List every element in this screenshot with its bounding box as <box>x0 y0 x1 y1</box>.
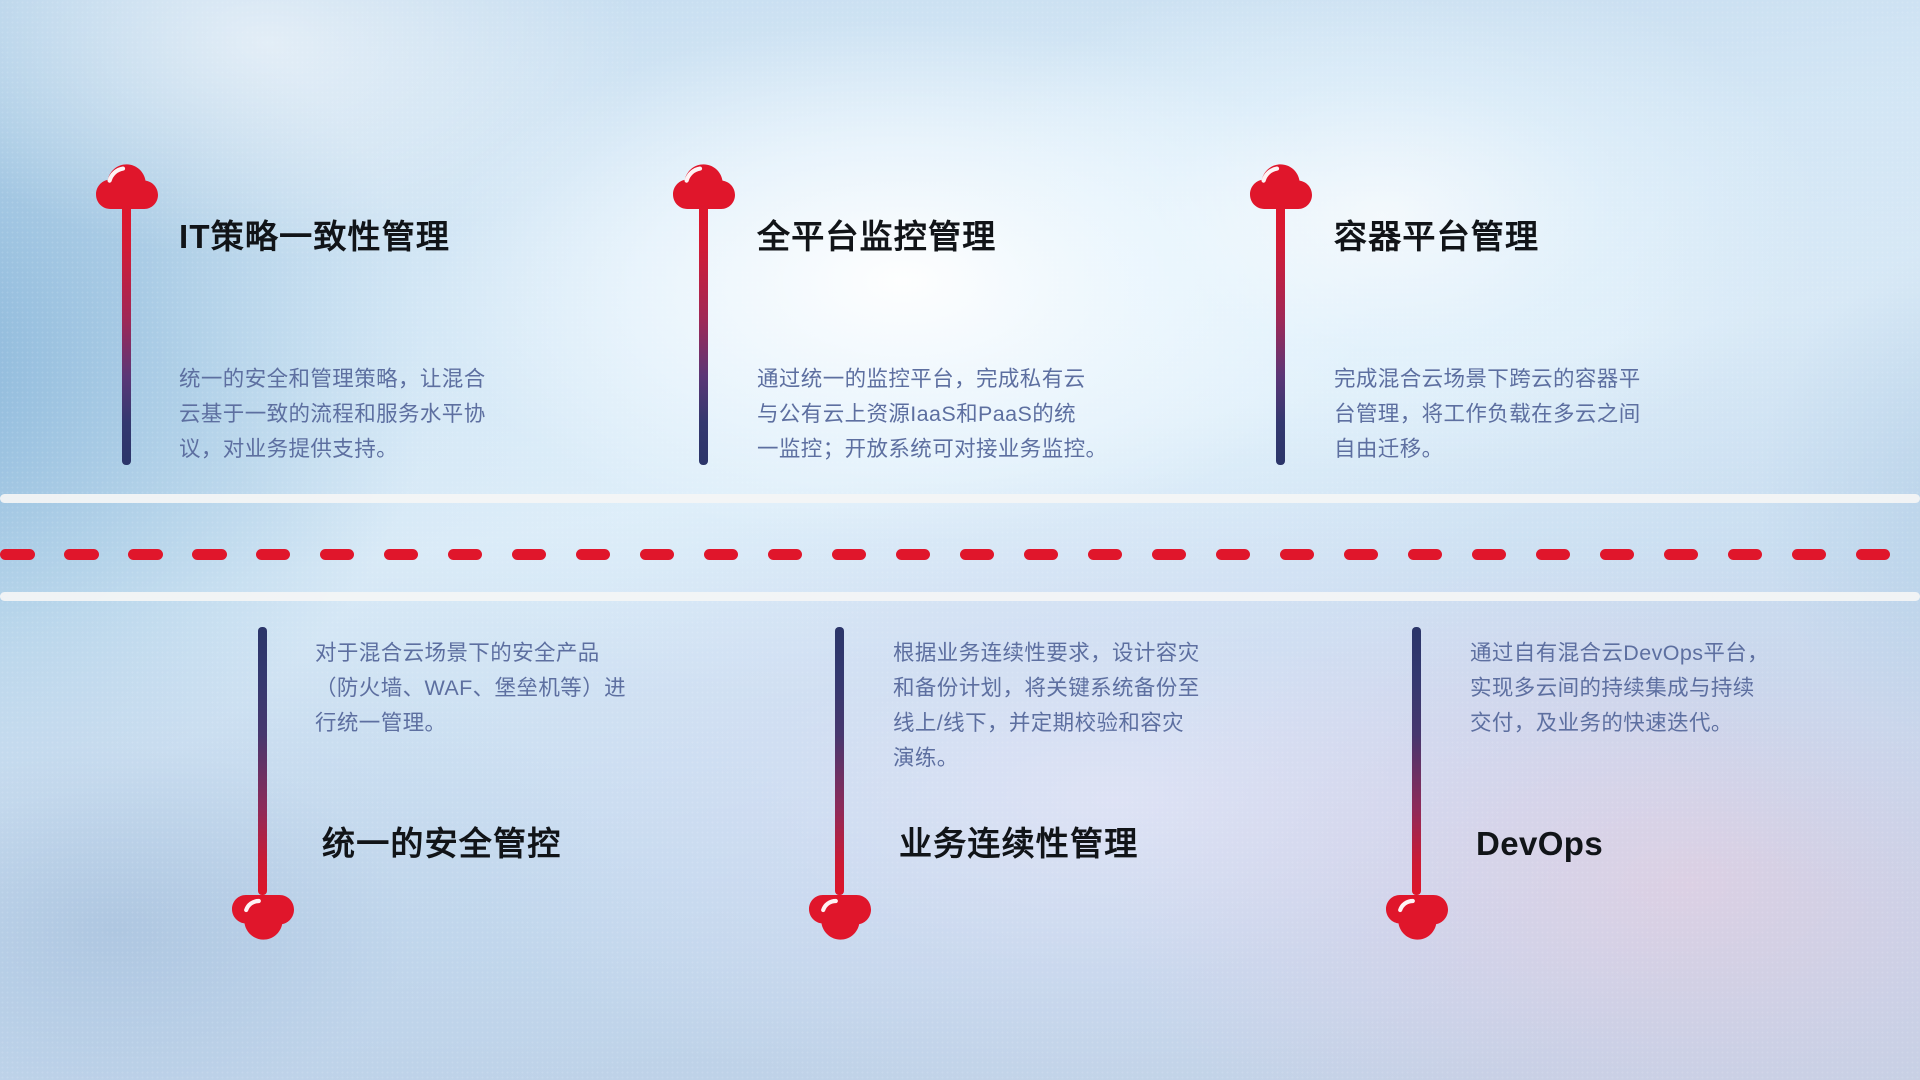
road-dash <box>448 549 483 560</box>
card-body-text: 通过自有混合云DevOps平台， 实现多云间的持续集成与持续 交付，及业务的快速… <box>1470 636 1900 741</box>
stem-connector <box>1276 203 1285 465</box>
road-dash <box>896 549 931 560</box>
road-dash <box>1856 549 1891 560</box>
road-dash <box>1216 549 1251 560</box>
card-body-text: 统一的安全和管理策略，让混合 云基于一致的流程和服务水平协 议，对业务提供支持。 <box>179 362 609 467</box>
card-heading: 业务连续性管理 <box>899 826 1138 862</box>
road-dash <box>128 549 163 560</box>
road-dash <box>1088 549 1123 560</box>
road-dash <box>384 549 419 560</box>
road-dash <box>1152 549 1187 560</box>
road-dash <box>1408 549 1443 560</box>
card-body-text: 对于混合云场景下的安全产品 （防火墙、WAF、堡垒机等）进 行统一管理。 <box>315 636 745 741</box>
stem-connector <box>122 203 131 465</box>
card-heading: 容器平台管理 <box>1334 219 1539 255</box>
road-dashed-centerline <box>0 549 1920 560</box>
card-heading: IT策略一致性管理 <box>179 219 450 255</box>
road-dash <box>960 549 995 560</box>
card-heading: 统一的安全管控 <box>322 826 561 862</box>
road-dash <box>576 549 611 560</box>
road-dash <box>512 549 547 560</box>
road-dash <box>192 549 227 560</box>
road-dash <box>1280 549 1315 560</box>
cloud-icon <box>809 895 871 941</box>
road-dash <box>832 549 867 560</box>
road-dash <box>1792 549 1827 560</box>
road-dash <box>1344 549 1379 560</box>
road-dash <box>704 549 739 560</box>
road-dash <box>64 549 99 560</box>
stem-connector <box>835 627 844 895</box>
card-body-text: 通过统一的监控平台，完成私有云 与公有云上资源IaaS和PaaS的统 一监控；开… <box>757 362 1207 467</box>
stem-connector <box>699 203 708 465</box>
infographic-canvas: IT策略一致性管理 统一的安全和管理策略，让混合 云基于一致的流程和服务水平协 … <box>0 0 1920 1080</box>
road-dash <box>768 549 803 560</box>
road-dash <box>1664 549 1699 560</box>
card-body-text: 完成混合云场景下跨云的容器平 台管理，将工作负载在多云之间 自由迁移。 <box>1334 362 1764 467</box>
stem-connector <box>1412 627 1421 895</box>
road-dash <box>256 549 291 560</box>
road-dash <box>320 549 355 560</box>
cloud-icon <box>232 895 294 941</box>
card-body-text: 根据业务连续性要求，设计容灾 和备份计划，将关键系统备份至 线上/线下，并定期校… <box>893 636 1323 776</box>
road-edge-top <box>0 494 1920 503</box>
road-dash <box>0 549 35 560</box>
road-dash <box>1600 549 1635 560</box>
stem-connector <box>258 627 267 895</box>
road-dash <box>1728 549 1763 560</box>
card-heading: 全平台监控管理 <box>757 219 996 255</box>
road-dash <box>1472 549 1507 560</box>
card-heading: DevOps <box>1476 826 1603 862</box>
road-dash <box>640 549 675 560</box>
road-dash <box>1024 549 1059 560</box>
road-dash <box>1536 549 1571 560</box>
cloud-icon <box>1386 895 1448 941</box>
road-edge-bottom <box>0 592 1920 601</box>
